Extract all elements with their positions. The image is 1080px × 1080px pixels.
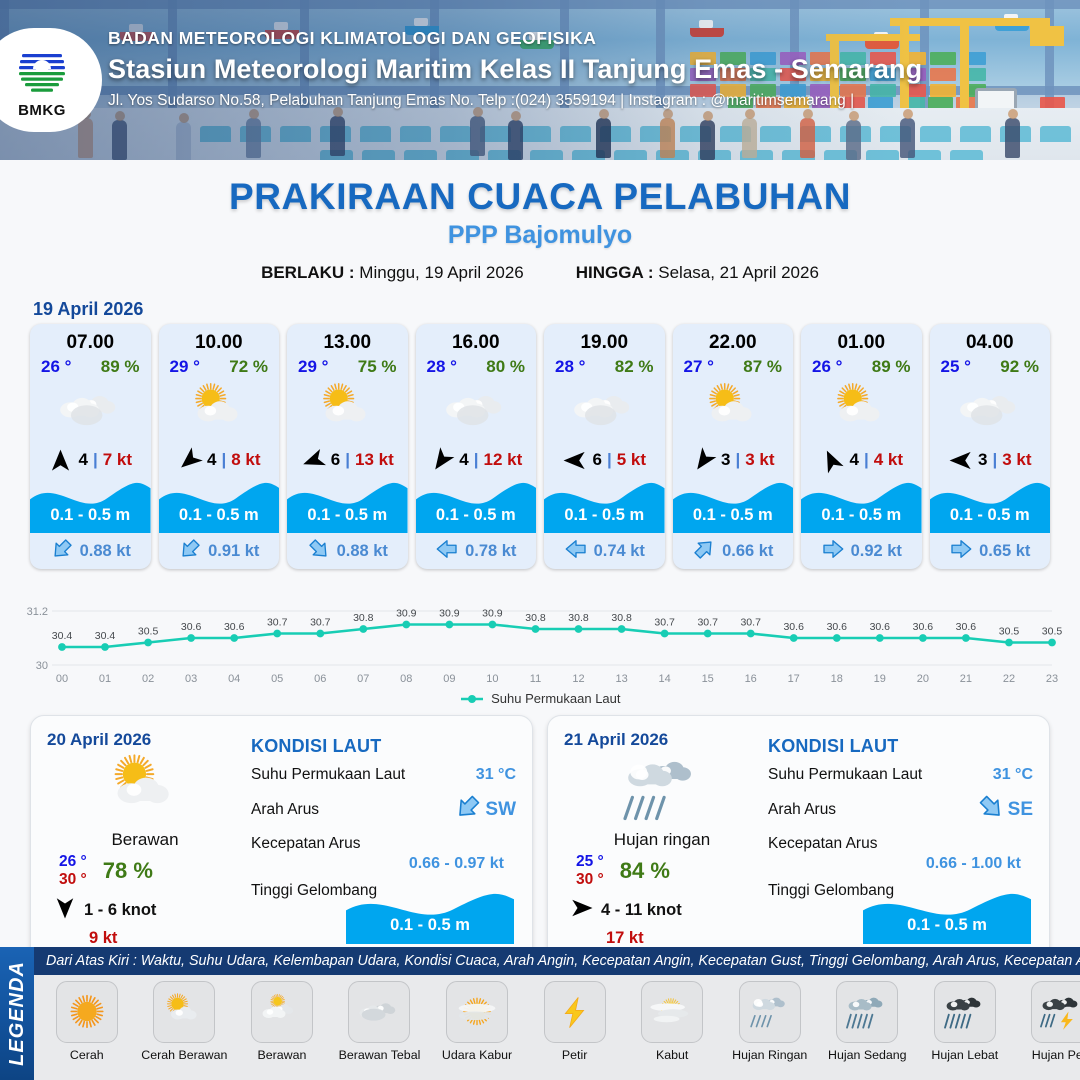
card-wave-height: 0.1 - 0.5 m [544,506,665,525]
card-temp-humidity-row: 26 ° 89 % [30,354,151,377]
card-wind-separator: | [992,450,997,470]
day-temp-block: 26 ° 30 ° 78 % [47,853,243,889]
legend-side-label: LEGENDA [6,961,29,1066]
wind-direction-arrow-icon [691,448,716,473]
day-wind-direction-arrow-icon [53,896,77,925]
legend-item: Berawan [233,981,331,1062]
svg-text:12: 12 [572,673,584,685]
card-weather-icon [930,380,1051,442]
legend-item: Udara Kabur [428,981,526,1062]
legend-item-icon [934,981,996,1043]
svg-text:17: 17 [788,673,800,685]
card-humidity: 87 % [743,357,782,377]
card-current-speed: 0.88 kt [337,542,388,561]
day-weather-icon [47,752,243,828]
card-wave-block: 0.1 - 0.5 m [673,477,794,533]
card-gust-speed: 12 kt [483,450,522,470]
svg-text:30.6: 30.6 [783,621,804,633]
current-direction-arrow-icon [821,537,845,566]
header-text-block: BADAN METEOROLOGI KLIMATOLOGI DAN GEOFIS… [108,28,922,110]
current-speed-value: 0.66 - 0.97 kt [251,855,516,873]
day-gust-speed: 17 kt [564,929,760,948]
day-wind-row: 1 - 6 knot [47,896,243,925]
svg-text:30.7: 30.7 [310,617,331,629]
card-gust-speed: 3 kt [745,450,774,470]
bmkg-logo: BMKG [0,28,102,132]
current-direction-value: SE [1008,799,1033,821]
forecast-card: 22.00 27 ° 87 % 3 | 3 kt 0.1 - 0.5 m 0.6… [673,324,794,569]
legend-item-icon [739,981,801,1043]
card-wave-block: 0.1 - 0.5 m [287,477,408,533]
wind-direction-arrow-icon [301,448,326,473]
current-direction-row: Arah Arus SE [768,793,1033,826]
forecast-card: 19.00 28 ° 82 % 6 | 5 kt 0.1 - 0.5 m [544,324,665,569]
svg-text:04: 04 [228,673,240,685]
card-weather-icon [673,380,794,442]
card-air-temp: 26 ° [41,357,71,377]
card-current-row: 0.78 kt [416,533,537,569]
svg-text:15: 15 [702,673,714,685]
card-time: 10.00 [159,324,280,354]
svg-text:30.6: 30.6 [224,621,245,633]
card-wind-row: 4 | 12 kt [416,443,537,477]
card-temp-humidity-row: 25 ° 92 % [930,354,1051,377]
svg-text:30.8: 30.8 [611,612,632,624]
legend-item: Cerah [38,981,136,1062]
valid-until-value: Selasa, 21 April 2026 [658,263,819,282]
legend-item-label: Petir [562,1048,587,1062]
forecast-card: 04.00 25 ° 92 % 3 | 3 kt 0.1 - 0.5 m [930,324,1051,569]
card-wave-height: 0.1 - 0.5 m [801,506,922,525]
legend-side-tab: LEGENDA [0,947,34,1080]
day-panel-left: 20 April 2026 Berawan 26 ° 30 ° 78 % 1 -… [47,730,243,948]
legend-item-icon [544,981,606,1043]
card-humidity: 75 % [358,357,397,377]
card-humidity: 92 % [1000,357,1039,377]
day-wind-row: 4 - 11 knot [564,896,760,925]
card-humidity: 89 % [872,357,911,377]
card-temp-humidity-row: 29 ° 75 % [287,354,408,377]
card-wind-separator: | [221,450,226,470]
sea-condition-title: KONDISI LAUT [251,736,516,757]
page-subtitle: PPP Bajomulyo [0,221,1080,250]
card-gust-speed: 5 kt [617,450,646,470]
card-wind-row: 6 | 5 kt [544,443,665,477]
day-weather-icon [564,752,760,828]
header-contact-line: Jl. Yos Sudarso No.58, Pelabuhan Tanjung… [108,92,922,110]
chart-legend-marker-icon [460,692,484,707]
legend-item-label: Cerah [70,1048,104,1062]
current-direction-arrow-icon [307,537,331,566]
card-temp-humidity-row: 28 ° 80 % [416,354,537,377]
card-time: 13.00 [287,324,408,354]
day-temp-min: 26 ° [59,853,87,871]
current-direction-arrow-icon [564,537,588,566]
card-wind-row: 3 | 3 kt [673,443,794,477]
legend-item-icon [836,981,898,1043]
legend-item-icon [251,981,313,1043]
card-time: 07.00 [30,324,151,354]
card-humidity: 80 % [486,357,525,377]
sst-value: 31 °C [993,766,1033,784]
current-direction-arrow-icon [178,537,202,566]
card-air-temp: 26 ° [812,357,842,377]
card-wind-row: 4 | 8 kt [159,443,280,477]
svg-text:18: 18 [831,673,843,685]
card-wave-height: 0.1 - 0.5 m [159,506,280,525]
card-air-temp: 28 ° [555,357,585,377]
header-station-name: Stasiun Meteorologi Maritim Kelas II Tan… [108,54,922,85]
legend-item: Berawan Tebal [331,981,429,1062]
svg-text:30.6: 30.6 [181,621,202,633]
day-wave-block: 0.1 - 0.5 m [863,888,1031,944]
svg-text:03: 03 [185,673,197,685]
card-wind-row: 4 | 7 kt [30,443,151,477]
svg-text:30.4: 30.4 [95,630,116,642]
day-panel-right: KONDISI LAUT Suhu Permukaan Laut 31 °C A… [760,730,1033,948]
wind-direction-arrow-icon [819,448,844,473]
svg-text:30.6: 30.6 [913,621,934,633]
svg-text:20: 20 [917,673,929,685]
day-current-direction-arrow-icon [454,793,482,826]
card-current-row: 0.88 kt [30,533,151,569]
card-air-temp: 29 ° [170,357,200,377]
current-direction-arrow-icon [435,537,459,566]
card-gust-speed: 3 kt [1002,450,1031,470]
legend-item: Kabut [623,981,721,1062]
svg-text:16: 16 [745,673,757,685]
current-direction-arrow-icon [50,537,74,566]
svg-text:31.2: 31.2 [27,606,48,618]
card-air-temp: 27 ° [684,357,714,377]
card-wind-separator: | [474,450,479,470]
card-air-temp: 29 ° [298,357,328,377]
current-direction-label: Arah Arus [251,801,319,819]
bmkg-emblem-icon [12,41,72,101]
card-current-speed: 0.66 kt [722,542,773,561]
day-condition: Berawan [47,830,243,850]
svg-text:30.8: 30.8 [568,612,589,624]
current-direction-value-group: SW [454,793,516,826]
sst-label: Suhu Permukaan Laut [768,766,922,784]
svg-text:30.5: 30.5 [999,626,1020,638]
legend-item: Hujan Petir [1014,981,1080,1062]
forecast-card: 16.00 28 ° 80 % 4 | 12 kt 0.1 - 0.5 m [416,324,537,569]
legend-item-icon [56,981,118,1043]
card-gust-speed: 7 kt [103,450,132,470]
current-speed-label: Kecepatan Arus [768,835,877,853]
card-wind-row: 6 | 13 kt [287,443,408,477]
card-gust-speed: 13 kt [355,450,394,470]
legend-item-icon [348,981,410,1043]
current-speed-row: Kecepatan Arus [251,835,516,853]
card-weather-icon [159,380,280,442]
current-speed-value: 0.66 - 1.00 kt [768,855,1033,873]
valid-from-value: Minggu, 19 April 2026 [359,263,523,282]
svg-text:08: 08 [400,673,412,685]
sst-label: Suhu Permukaan Laut [251,766,405,784]
card-wind-separator: | [607,450,612,470]
svg-text:10: 10 [486,673,498,685]
svg-text:30.4: 30.4 [52,630,73,642]
svg-text:22: 22 [1003,673,1015,685]
current-direction-value-group: SE [977,793,1033,826]
day-humidity: 78 % [103,858,153,884]
svg-text:30.7: 30.7 [654,617,675,629]
current-speed-row: Kecepatan Arus [768,835,1033,853]
legend-bar: LEGENDA Dari Atas Kiri : Waktu, Suhu Uda… [0,947,1080,1080]
card-current-speed: 0.88 kt [80,542,131,561]
chart-legend: Suhu Permukaan Laut [0,691,1080,707]
svg-text:30.6: 30.6 [956,621,977,633]
card-wind-separator: | [93,450,98,470]
wind-direction-arrow-icon [177,448,202,473]
card-weather-icon [287,380,408,442]
card-temp-humidity-row: 29 ° 72 % [159,354,280,377]
legend-body: Dari Atas Kiri : Waktu, Suhu Udara, Kele… [34,947,1080,1080]
day-temp-min: 25 ° [576,853,604,871]
card-humidity: 82 % [615,357,654,377]
card-current-row: 0.91 kt [159,533,280,569]
wind-direction-arrow-icon [948,448,973,473]
svg-text:21: 21 [960,673,972,685]
card-wind-speed: 3 [978,450,987,470]
card-humidity: 72 % [229,357,268,377]
card-wind-speed: 4 [459,450,468,470]
svg-text:05: 05 [271,673,283,685]
sst-row: Suhu Permukaan Laut 31 °C [251,766,516,784]
day-gust-speed: 9 kt [47,929,243,948]
card-time: 04.00 [930,324,1051,354]
card-wave-height: 0.1 - 0.5 m [287,506,408,525]
bmkg-logo-text: BMKG [18,102,66,119]
svg-text:09: 09 [443,673,455,685]
card-wave-height: 0.1 - 0.5 m [930,506,1051,525]
legend-item-label: Cerah Berawan [141,1048,227,1062]
card-weather-icon [801,380,922,442]
card-wind-speed: 4 [849,450,858,470]
card-current-row: 0.74 kt [544,533,665,569]
card-wind-row: 4 | 4 kt [801,443,922,477]
current-direction-arrow-icon [692,537,716,566]
day-wave-height: 0.1 - 0.5 m [346,916,514,935]
page-header: BMKG BADAN METEOROLOGI KLIMATOLOGI DAN G… [0,0,1080,160]
card-wave-block: 0.1 - 0.5 m [416,477,537,533]
sst-row: Suhu Permukaan Laut 31 °C [768,766,1033,784]
svg-text:07: 07 [357,673,369,685]
svg-text:30.8: 30.8 [353,612,374,624]
forecast-card: 10.00 29 ° 72 % 4 | 8 kt 0.1 - 0.5 m 0.9… [159,324,280,569]
card-wind-separator: | [864,450,869,470]
day-wind-direction-arrow-icon [570,896,594,925]
current-direction-arrow-icon [949,537,973,566]
forecast-card: 07.00 26 ° 89 % 4 | 7 kt 0.1 - 0.5 m [30,324,151,569]
sea-condition-title: KONDISI LAUT [768,736,1033,757]
legend-item-icon [1031,981,1080,1043]
svg-text:30.7: 30.7 [697,617,718,629]
card-temp-humidity-row: 27 ° 87 % [673,354,794,377]
day-forecast-panel: 21 April 2026 Hujan ringan 25 ° 30 ° 84 … [547,715,1050,963]
chart-legend-label: Suhu Permukaan Laut [491,691,620,706]
wind-direction-arrow-icon [562,448,587,473]
svg-text:30.7: 30.7 [740,617,761,629]
svg-text:30.9: 30.9 [439,608,460,620]
forecast-card-row: 07.00 26 ° 89 % 4 | 7 kt 0.1 - 0.5 m [0,324,1080,569]
card-wind-speed: 3 [721,450,730,470]
valid-from: BERLAKU : Minggu, 19 April 2026 [261,263,524,283]
svg-text:30.5: 30.5 [138,626,159,638]
svg-text:30.5: 30.5 [1042,626,1062,638]
forecast-card: 01.00 26 ° 89 % 4 | 4 kt 0.1 - 0.5 m 0.9… [801,324,922,569]
card-wind-row: 3 | 3 kt [930,443,1051,477]
card-wave-height: 0.1 - 0.5 m [673,506,794,525]
svg-text:01: 01 [99,673,111,685]
card-wind-speed: 4 [207,450,216,470]
day-condition: Hujan ringan [564,830,760,850]
legend-item-icon [153,981,215,1043]
legend-item-icon [446,981,508,1043]
current-direction-row: Arah Arus SW [251,793,516,826]
page-title-block: PRAKIRAAN CUACA PELABUHAN PPP Bajomulyo … [0,176,1080,283]
day-current-direction-arrow-icon [977,793,1005,826]
svg-text:30.9: 30.9 [396,608,417,620]
legend-item-label: Kabut [656,1048,688,1062]
card-time: 16.00 [416,324,537,354]
page-title: PRAKIRAAN CUACA PELABUHAN [0,176,1080,218]
day-date: 21 April 2026 [564,730,760,750]
valid-from-label: BERLAKU : [261,263,355,282]
card-time: 19.00 [544,324,665,354]
valid-until: HINGGA : Selasa, 21 April 2026 [576,263,819,283]
day-date: 20 April 2026 [47,730,243,750]
card-temp-humidity-row: 26 ° 89 % [801,354,922,377]
day-wave-height: 0.1 - 0.5 m [863,916,1031,935]
current-speed-label: Kecepatan Arus [251,835,360,853]
svg-text:13: 13 [615,673,627,685]
card-weather-icon [544,380,665,442]
card-air-temp: 25 ° [941,357,971,377]
svg-text:30.9: 30.9 [482,608,503,620]
validity-row: BERLAKU : Minggu, 19 April 2026 HINGGA :… [0,263,1080,283]
card-wave-block: 0.1 - 0.5 m [159,477,280,533]
card-wind-separator: | [735,450,740,470]
card-temp-humidity-row: 28 ° 82 % [544,354,665,377]
legend-item: Cerah Berawan [136,981,234,1062]
card-time: 01.00 [801,324,922,354]
svg-text:11: 11 [530,673,541,685]
sst-value: 31 °C [476,766,516,784]
legend-item: Hujan Sedang [819,981,917,1062]
forecast-card: 13.00 29 ° 75 % 6 | 13 kt 0.1 - 0.5 m 0.… [287,324,408,569]
svg-text:06: 06 [314,673,326,685]
day-temp-range: 25 ° 30 ° [576,853,604,889]
day-wind-range: 4 - 11 knot [601,901,682,920]
day-humidity: 84 % [620,858,670,884]
card-wave-block: 0.1 - 0.5 m [930,477,1051,533]
card-wave-block: 0.1 - 0.5 m [801,477,922,533]
svg-text:30.8: 30.8 [525,612,546,624]
day-panel-right: KONDISI LAUT Suhu Permukaan Laut 31 °C A… [243,730,516,948]
legend-item: Hujan Ringan [721,981,819,1062]
day-panel-left: 21 April 2026 Hujan ringan 25 ° 30 ° 84 … [564,730,760,948]
header-agency-name: BADAN METEOROLOGI KLIMATOLOGI DAN GEOFIS… [108,28,922,49]
legend-item-label: Hujan Sedang [828,1048,907,1062]
wind-direction-arrow-icon [429,448,454,473]
wind-direction-arrow-icon [48,448,73,473]
card-time: 22.00 [673,324,794,354]
legend-note: Dari Atas Kiri : Waktu, Suhu Udara, Kele… [34,947,1080,975]
card-wave-height: 0.1 - 0.5 m [416,506,537,525]
card-air-temp: 28 ° [427,357,457,377]
legend-item: Hujan Lebat [916,981,1014,1062]
legend-item-label: Hujan Petir [1032,1048,1080,1062]
svg-text:23: 23 [1046,673,1058,685]
card-weather-icon [416,380,537,442]
svg-text:00: 00 [56,673,68,685]
card-wind-separator: | [345,450,350,470]
card-current-row: 0.66 kt [673,533,794,569]
card-wind-speed: 6 [592,450,601,470]
legend-item-label: Udara Kabur [442,1048,512,1062]
legend-icon-row: Cerah Cerah Berawan Berawan [34,975,1080,1080]
valid-until-label: HINGGA : [576,263,654,282]
svg-text:30.6: 30.6 [870,621,891,633]
day-temp-max: 30 ° [59,871,87,889]
svg-text:30.7: 30.7 [267,617,288,629]
sst-chart: 31.23030.430.430.530.630.630.730.730.830… [18,581,1062,689]
legend-item-label: Hujan Lebat [931,1048,998,1062]
svg-text:30.6: 30.6 [827,621,848,633]
svg-text:19: 19 [874,673,886,685]
card-wind-speed: 4 [78,450,87,470]
card-gust-speed: 8 kt [231,450,260,470]
card-weather-icon [30,380,151,442]
day-temp-range: 26 ° 30 ° [59,853,87,889]
daily-forecast-panels: 20 April 2026 Berawan 26 ° 30 ° 78 % 1 -… [0,707,1080,963]
legend-item-icon [641,981,703,1043]
day-wind-range: 1 - 6 knot [84,901,156,920]
card-current-row: 0.88 kt [287,533,408,569]
card-gust-speed: 4 kt [874,450,903,470]
day-temp-max: 30 ° [576,871,604,889]
card-current-speed: 0.65 kt [979,542,1030,561]
card-wave-height: 0.1 - 0.5 m [30,506,151,525]
card-current-speed: 0.74 kt [594,542,645,561]
card-current-speed: 0.91 kt [208,542,259,561]
card-current-speed: 0.78 kt [465,542,516,561]
legend-item-label: Berawan Tebal [339,1048,421,1062]
forecast-date-label: 19 April 2026 [33,299,1080,320]
legend-item-label: Berawan [257,1048,306,1062]
card-current-row: 0.92 kt [801,533,922,569]
card-wind-speed: 6 [331,450,340,470]
card-current-speed: 0.92 kt [851,542,902,561]
svg-text:30: 30 [36,660,48,672]
day-wave-block: 0.1 - 0.5 m [346,888,514,944]
day-temp-block: 25 ° 30 ° 84 % [564,853,760,889]
card-wave-block: 0.1 - 0.5 m [30,477,151,533]
card-humidity: 89 % [101,357,140,377]
day-forecast-panel: 20 April 2026 Berawan 26 ° 30 ° 78 % 1 -… [30,715,533,963]
legend-item: Petir [526,981,624,1062]
svg-text:02: 02 [142,673,154,685]
legend-item-label: Hujan Ringan [732,1048,807,1062]
svg-text:14: 14 [658,673,670,685]
card-wave-block: 0.1 - 0.5 m [544,477,665,533]
current-direction-label: Arah Arus [768,801,836,819]
current-direction-value: SW [485,799,516,821]
card-current-row: 0.65 kt [930,533,1051,569]
